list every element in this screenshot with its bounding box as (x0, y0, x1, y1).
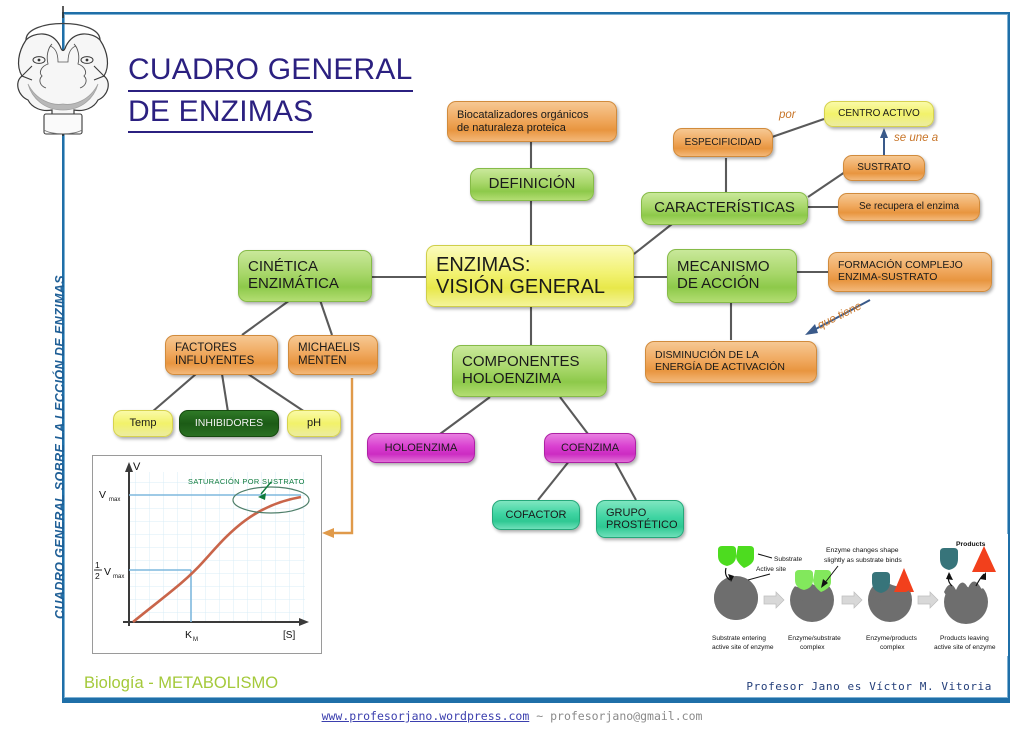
node-cofactor[interactable]: COFACTOR (492, 500, 580, 530)
node-temp[interactable]: Temp (113, 410, 173, 437)
svg-text:Enzyme/substrate: Enzyme/substrate (788, 635, 841, 642)
node-label: FORMACIÓN COMPLEJO ENZIMA-SUSTRATO (838, 260, 982, 284)
svg-text:max: max (109, 497, 120, 503)
mech-panel-products-leaving: Products (940, 541, 996, 624)
node-label: COMPONENTES HOLOENZIMA (462, 354, 597, 388)
node-grupo-prostetico[interactable]: GRUPO PROSTÉTICO (596, 500, 684, 538)
node-label: MECANISMO DE ACCIÓN (677, 259, 787, 293)
node-coenzima[interactable]: COENZIMA (544, 433, 636, 463)
enzyme-mechanism-illustration: Substrate Active site (700, 534, 1008, 656)
node-label: ENZIMAS: VISIÓN GENERAL (436, 254, 624, 299)
node-centro-activo[interactable]: CENTRO ACTIVO (824, 101, 934, 127)
svg-text:V: V (104, 566, 111, 578)
node-disminucion-energia-activacion[interactable]: DISMINUCIÓN DE LA ENERGÍA DE ACTIVACIÓN (645, 341, 817, 383)
node-formacion-complejo[interactable]: FORMACIÓN COMPLEJO ENZIMA-SUSTRATO (828, 252, 992, 292)
svg-text:Substrate entering: Substrate entering (712, 635, 766, 642)
node-label: Se recupera el enzima (848, 201, 970, 212)
node-ph[interactable]: pH (287, 410, 341, 437)
node-holoenzima[interactable]: HOLOENZIMA (367, 433, 475, 463)
node-label: CENTRO ACTIVO (834, 108, 924, 119)
sidebar-vertical-title: CUADRO GENERAL SOBRE LA LECCIÓN DE ENZIM… (53, 237, 67, 657)
node-label: FACTORES INFLUYENTES (175, 342, 268, 368)
connector-label-por: por (779, 109, 796, 121)
subject-label: Biología - METABOLISMO (84, 674, 278, 693)
janus-logo-icon (8, 4, 118, 136)
page-title: CUADRO GENERAL DE ENZIMAS (128, 52, 413, 135)
email-address: profesorjano@gmail.com (550, 709, 702, 723)
node-sustrato[interactable]: SUSTRATO (843, 155, 925, 181)
page-title-line-2: DE ENZIMAS (128, 94, 313, 134)
node-michaelis-menten[interactable]: MICHAELIS MENTEN (288, 335, 378, 375)
node-label: CARACTERÍSTICAS (651, 200, 798, 217)
node-especificidad[interactable]: ESPECIFICIDAD (673, 128, 773, 157)
svg-text:[S]: [S] (283, 630, 295, 641)
node-label: CINÉTICA ENZIMÁTICA (248, 259, 362, 293)
svg-text:Enzyme/products: Enzyme/products (866, 635, 918, 642)
node-componentes-holoenzima[interactable]: COMPONENTES HOLOENZIMA (452, 345, 607, 397)
node-enzimas-vision-general[interactable]: ENZIMAS: VISIÓN GENERAL (426, 245, 634, 307)
node-label: ESPECIFICIDAD (683, 137, 763, 148)
svg-text:active site of enzyme: active site of enzyme (934, 644, 996, 651)
node-inhibidores[interactable]: INHIBIDORES (179, 410, 279, 437)
michaelis-menten-graph: V [S] V max 1 2 V max K M SATURACIÓN POR… (92, 455, 322, 654)
node-label: HOLOENZIMA (377, 442, 465, 454)
svg-text:active site of enzyme: active site of enzyme (712, 644, 774, 651)
svg-text:complex: complex (880, 644, 905, 651)
svg-text:V: V (99, 489, 106, 501)
page-title-line-1: CUADRO GENERAL (128, 52, 413, 92)
svg-text:slightly as substrate binds: slightly as substrate binds (824, 557, 902, 564)
node-label: GRUPO PROSTÉTICO (606, 507, 674, 532)
website-link[interactable]: www.profesorjano.wordpress.com (322, 709, 530, 723)
node-label: pH (297, 417, 331, 429)
node-label: DEFINICIÓN (480, 176, 584, 193)
svg-text:Substrate: Substrate (774, 556, 803, 563)
mech-panel-enzyme-products-complex (866, 558, 914, 622)
svg-text:max: max (113, 574, 124, 580)
node-factores-influyentes[interactable]: FACTORES INFLUYENTES (165, 335, 278, 375)
svg-text:Enzyme changes shape: Enzyme changes shape (826, 547, 899, 554)
node-caracteristicas[interactable]: CARACTERÍSTICAS (641, 192, 808, 225)
node-label: Temp (123, 417, 163, 429)
mech-panel-enzyme-substrate-complex (788, 558, 836, 622)
svg-text:V: V (133, 461, 141, 473)
node-label: COFACTOR (502, 509, 570, 521)
svg-text:2: 2 (95, 571, 100, 581)
svg-text:K: K (185, 629, 192, 641)
connector-label-se-une-a: se une a (894, 132, 938, 144)
svg-text:Products leaving: Products leaving (940, 635, 989, 642)
node-label: Biocatalizadores orgánicos de naturaleza… (457, 109, 607, 134)
author-credit: Profesor Jano es Víctor M. Vitoria (746, 680, 992, 693)
node-biocatalizadores[interactable]: Biocatalizadores orgánicos de naturaleza… (447, 101, 617, 142)
node-definicion[interactable]: DEFINICIÓN (470, 168, 594, 201)
node-label: COENZIMA (554, 442, 626, 454)
node-label: SUSTRATO (853, 162, 915, 173)
node-label: DISMINUCIÓN DE LA ENERGÍA DE ACTIVACIÓN (655, 350, 807, 374)
node-cinetica-enzimatica[interactable]: CINÉTICA ENZIMÁTICA (238, 250, 372, 302)
svg-text:Products: Products (956, 541, 986, 548)
credits-separator: ~ (536, 709, 543, 723)
svg-text:Active site: Active site (756, 566, 786, 573)
svg-text:M: M (193, 637, 198, 643)
node-se-recupera-el-enzima[interactable]: Se recupera el enzima (838, 193, 980, 221)
svg-text:1: 1 (95, 560, 100, 570)
node-mecanismo-de-accion[interactable]: MECANISMO DE ACCIÓN (667, 249, 797, 303)
node-label: INHIBIDORES (189, 418, 269, 430)
node-label: MICHAELIS MENTEN (298, 342, 368, 368)
credits-line: www.profesorjano.wordpress.com ~ profeso… (0, 709, 1024, 723)
footer-divider (62, 700, 1010, 703)
svg-text:complex: complex (800, 644, 825, 651)
svg-text:SATURACIÓN POR SUSTRATO: SATURACIÓN POR SUSTRATO (188, 477, 305, 486)
